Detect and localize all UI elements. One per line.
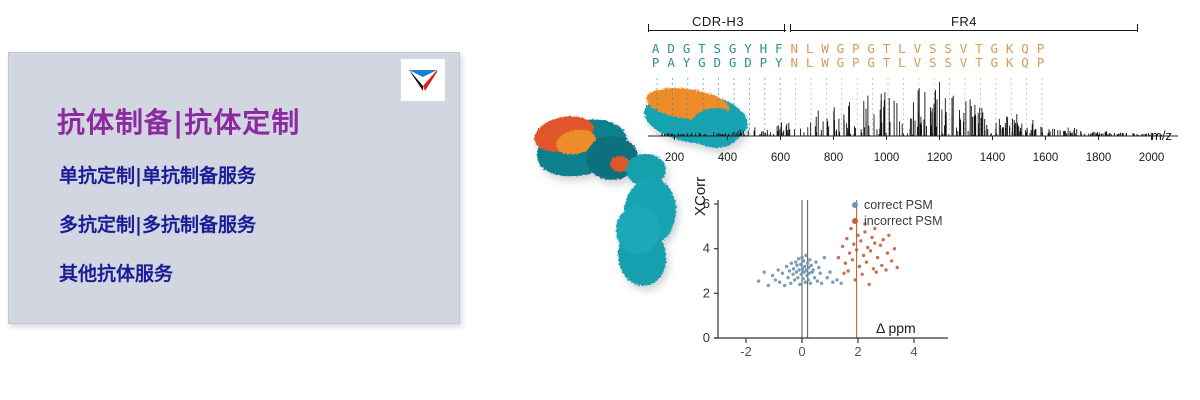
spectrum-xtick: 1800 <box>1086 152 1112 164</box>
region-brackets: CDR-H3 FR4 <box>648 18 1178 42</box>
page-title: 抗体制备|抗体定制 <box>57 101 300 141</box>
svg-text:2: 2 <box>854 344 861 359</box>
spectrum-xticks: 200400600800100012001400160018002000 <box>648 152 1178 168</box>
sequence-row-reference: PAYGDGDPYNLWGPGTLVSSVTGKQP <box>648 56 1178 70</box>
svg-text:4: 4 <box>910 344 917 359</box>
spectrum-axis-label: m/z <box>1151 128 1172 143</box>
promo-link-other-services[interactable]: 其他抗体服务 <box>59 259 256 286</box>
svg-text:4: 4 <box>703 241 710 256</box>
region-label-cdr-h3: CDR-H3 <box>692 14 744 29</box>
spectrum-xtick: 1400 <box>980 152 1006 164</box>
spectrum-xtick: 1000 <box>874 152 900 164</box>
promo-link-list: 单抗定制|单抗制备服务 多抗定制|多抗制备服务 其他抗体服务 <box>59 161 256 286</box>
spectrum-xtick: 1200 <box>927 152 953 164</box>
spectrum-xtick: 400 <box>718 152 737 164</box>
promo-card: 抗体制备|抗体定制 单抗定制|单抗制备服务 多抗定制|多抗制备服务 其他抗体服务 <box>8 52 460 324</box>
antibody-sequencing-figure: CDR-H3 FR4 ADGTSGYHFNLWGPGTLVSSVTGKQP PA… <box>500 0 1200 400</box>
scatter-y-axis-label: XCorr <box>692 177 709 216</box>
spectrum-xtick: 200 <box>665 152 684 164</box>
spectrum-xtick: 600 <box>771 152 790 164</box>
legend-dot-correct <box>852 202 858 208</box>
legend-item-incorrect: incorrect PSM <box>852 214 943 228</box>
svg-text:0: 0 <box>703 330 710 345</box>
spectrum-xtick: 800 <box>824 152 843 164</box>
legend-dot-incorrect <box>852 218 858 224</box>
company-logo <box>401 59 445 101</box>
mass-spectrum-chart: m/z 200400600800100012001400160018002000 <box>648 78 1178 170</box>
svg-text:-2: -2 <box>740 344 752 359</box>
region-label-fr4: FR4 <box>951 14 977 29</box>
sequence-row-observed: ADGTSGYHFNLWGPGTLVSSVTGKQP <box>648 42 1178 56</box>
promo-link-polyclonal[interactable]: 多抗定制|多抗制备服务 <box>59 210 256 237</box>
spectrum-xtick: 2000 <box>1139 152 1165 164</box>
svg-text:2: 2 <box>703 285 710 300</box>
spectrum-xtick: 1600 <box>1033 152 1059 164</box>
svg-text:0: 0 <box>798 344 805 359</box>
sequence-alignment-panel: CDR-H3 FR4 ADGTSGYHFNLWGPGTLVSSVTGKQP PA… <box>648 18 1178 80</box>
scatter-legend: correct PSM incorrect PSM <box>852 198 943 230</box>
scatter-x-axis-label: Δ ppm <box>876 320 916 336</box>
legend-item-correct: correct PSM <box>852 198 943 212</box>
legend-label-incorrect: incorrect PSM <box>864 214 943 228</box>
legend-label-correct: correct PSM <box>864 198 933 212</box>
promo-link-monoclonal[interactable]: 单抗定制|单抗制备服务 <box>59 161 256 188</box>
xcorr-scatter-chart: 0246-2024 XCorr Δ ppm correct PSM incorr… <box>680 190 950 370</box>
